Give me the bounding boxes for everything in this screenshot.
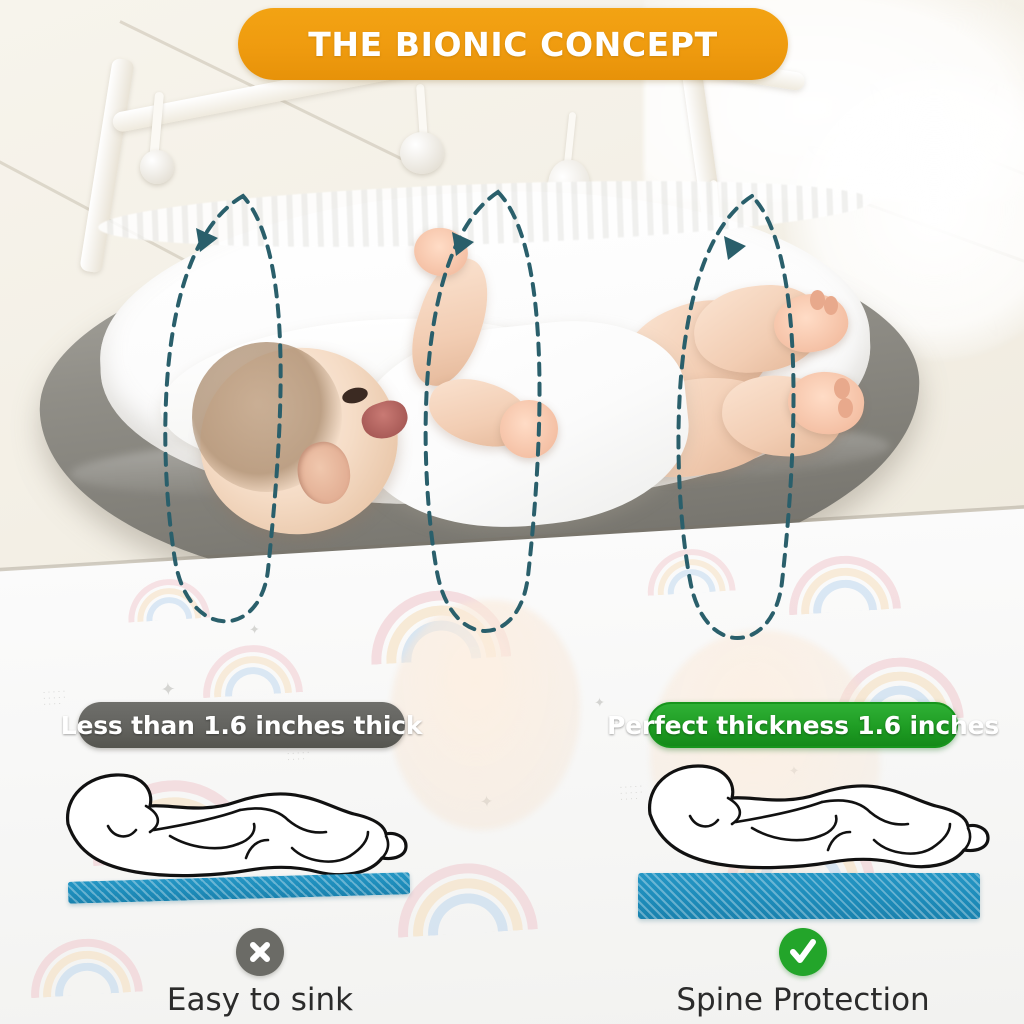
badge-less-than-thickness: Less than 1.6 inches thick — [78, 702, 405, 748]
check-icon-glyph — [786, 935, 820, 969]
product-infographic: ✦ ✦ ✦ ✦ ✦ ·············· ·············· … — [0, 0, 1024, 1024]
caption-easy-to-sink: Easy to sink — [130, 928, 390, 1018]
diagram-baby-supported — [620, 758, 1010, 886]
check-icon — [779, 928, 827, 976]
cross-icon-glyph — [245, 937, 275, 967]
badge-left-label: Less than 1.6 inches thick — [61, 711, 423, 740]
badge-perfect-thickness: Perfect thickness 1.6 inches — [648, 702, 958, 748]
dashed-loop-right — [678, 196, 793, 638]
banner-title: THE BIONIC CONCEPT — [308, 25, 717, 64]
mattress-thick — [638, 873, 980, 919]
dashed-loop-center — [426, 192, 540, 631]
header-banner: THE BIONIC CONCEPT — [238, 8, 788, 80]
dashed-loop-left — [165, 196, 280, 621]
caption-left-label: Easy to sink — [167, 982, 353, 1018]
cross-icon — [236, 928, 284, 976]
loop-arrowhead-right — [724, 236, 746, 260]
loop-arrowhead-center — [452, 232, 474, 256]
badge-right-label: Perfect thickness 1.6 inches — [607, 711, 999, 740]
caption-right-label: Spine Protection — [676, 982, 929, 1018]
caption-spine-protection: Spine Protection — [648, 928, 958, 1018]
